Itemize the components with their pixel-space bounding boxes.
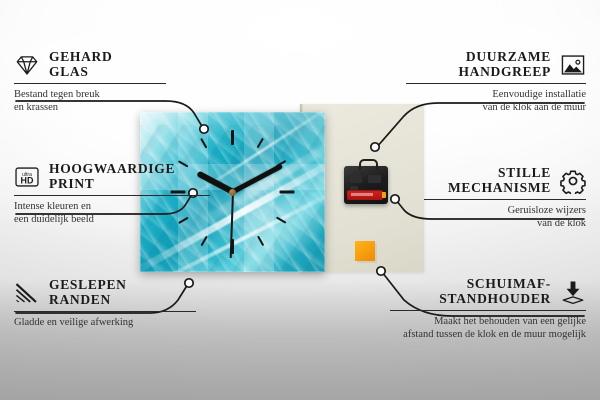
feature-heading: GESLEPEN RANDEN (14, 278, 228, 307)
feature-title: GESLEPEN RANDEN (49, 278, 127, 307)
feature-schuimaf-standhouder: SCHUIMAF- STANDHOUDER Maakt het behouden… (372, 277, 586, 341)
feature-subtitle: van de klok aan de muur (372, 102, 586, 114)
feature-title: GEHARD GLAS (49, 50, 112, 79)
feature-divider (14, 195, 210, 196)
leader-endpoint-standhouder (377, 267, 385, 275)
feature-subtitle: Gladde en veilige afwerking (14, 317, 228, 329)
press-down-spacer-icon (560, 279, 586, 305)
feature-hd-print: ultra HD HOOGWAARDIGE PRINT Intense kleu… (14, 162, 228, 226)
feature-heading: ultra HD HOOGWAARDIGE PRINT (14, 162, 228, 191)
feature-duurzame-handgreep: DUURZAME HANDGREEP Eenvoudige installati… (372, 50, 586, 114)
feature-title: DUURZAME HANDGREEP (458, 50, 551, 79)
gear-icon (560, 168, 586, 194)
feature-heading: DUURZAME HANDGREEP (372, 50, 586, 79)
feature-title: SCHUIMAF- STANDHOUDER (439, 277, 551, 306)
feature-divider (14, 311, 196, 312)
feature-subtitle: een duidelijk beeld (14, 214, 228, 226)
ultra-hd-badge-icon: ultra HD (14, 164, 40, 190)
feature-subtitle: Geruisloze wijzers (372, 205, 586, 217)
feature-title: HOOGWAARDIGE PRINT (49, 162, 175, 191)
feature-subtitle: van de klok (372, 218, 586, 230)
feature-subtitle: en krassen (14, 102, 228, 114)
svg-text:HD: HD (21, 175, 34, 185)
feature-divider (424, 199, 586, 200)
diamond-icon (14, 52, 40, 78)
leader-endpoint-gehard-glas (200, 125, 208, 133)
feature-stille-mechanisme: STILLE MECHANISME Geruisloze wijzers van… (372, 166, 586, 230)
framed-picture-icon (560, 52, 586, 78)
feature-subtitle: Bestand tegen breuk (14, 89, 228, 101)
feature-subtitle: Eenvoudige installatie (372, 89, 586, 101)
feature-heading: SCHUIMAF- STANDHOUDER (372, 277, 586, 306)
infographic-canvas: GEHARD GLAS Bestand tegen breuk en krass… (0, 0, 600, 400)
feature-divider (406, 83, 586, 84)
feature-divider (390, 310, 586, 311)
feature-gehard-glas: GEHARD GLAS Bestand tegen breuk en krass… (14, 50, 228, 114)
feature-heading: STILLE MECHANISME (372, 166, 586, 195)
feature-divider (14, 83, 166, 84)
feature-subtitle: Intense kleuren en (14, 201, 228, 213)
feature-subtitle: Maakt het behouden van een gelijke (372, 316, 586, 328)
leader-endpoint-handgreep (371, 143, 379, 151)
beveled-edge-icon (14, 280, 40, 306)
feature-title: STILLE MECHANISME (448, 166, 551, 195)
feature-heading: GEHARD GLAS (14, 50, 228, 79)
feature-geslepen-randen: GESLEPEN RANDEN Gladde en veilige afwerk… (14, 278, 228, 330)
feature-subtitle: afstand tussen de klok en de muur mogeli… (372, 329, 586, 341)
